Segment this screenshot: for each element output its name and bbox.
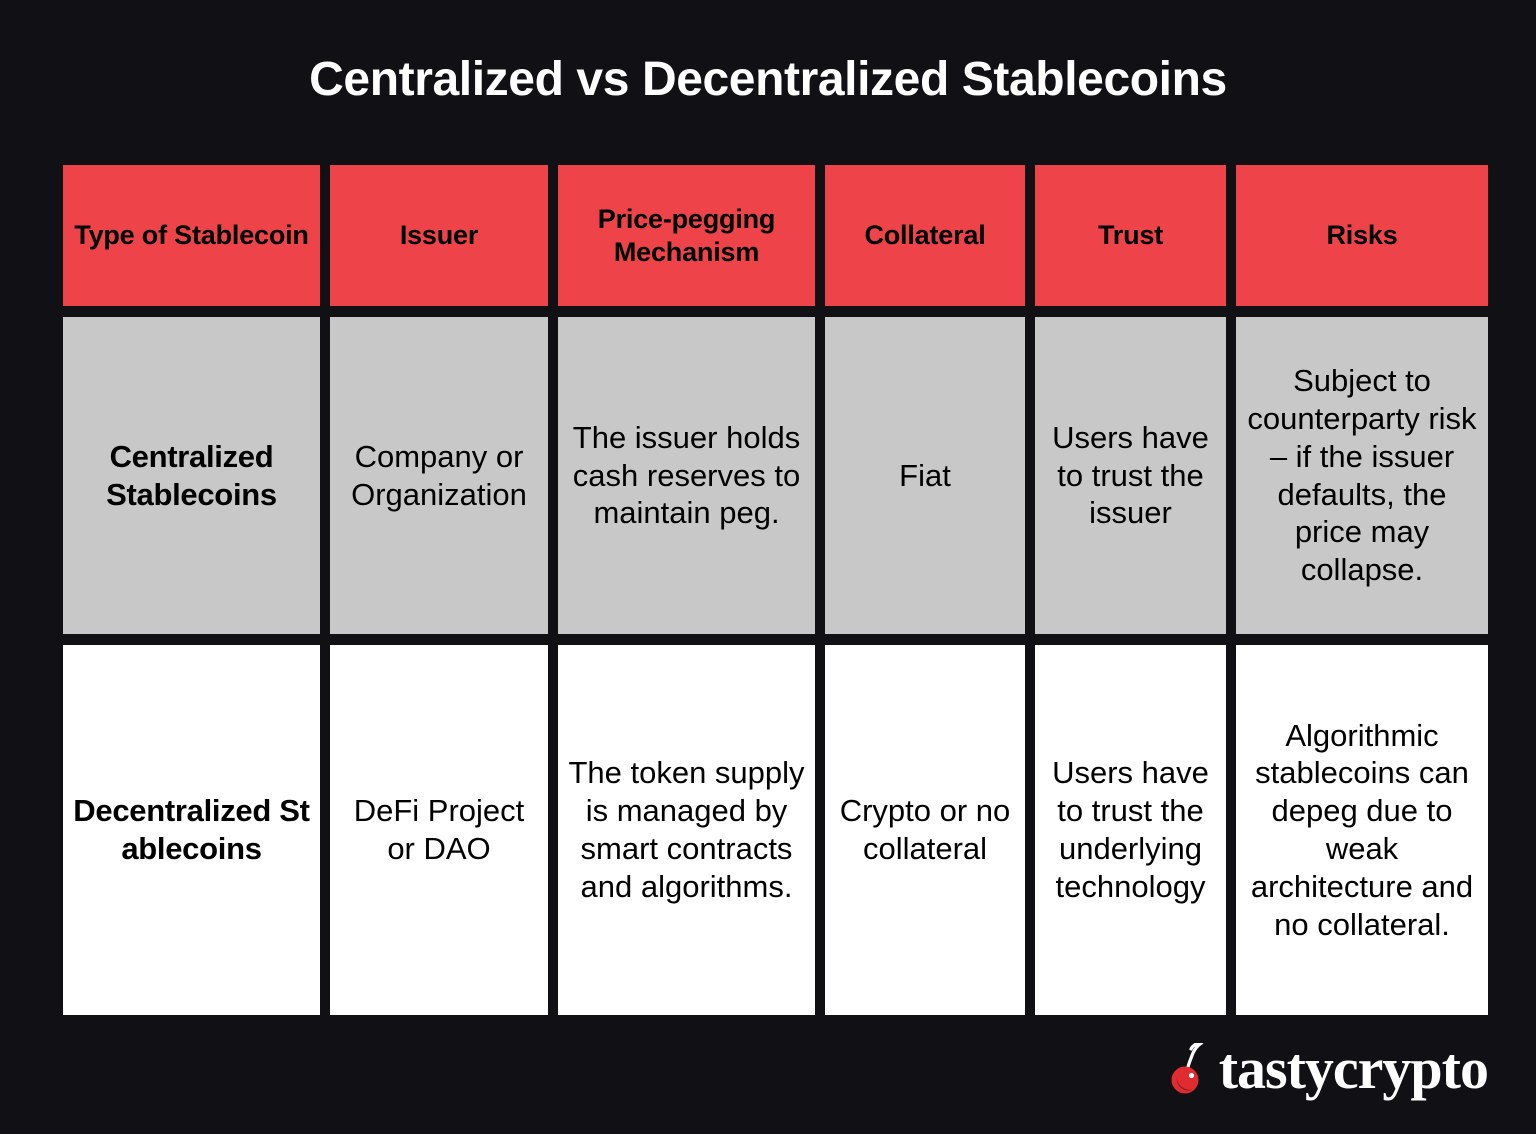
column-header-price-pegging-mechanism: Price-pegging Mechanism bbox=[558, 165, 815, 306]
cell-centralized-collateral: Fiat bbox=[825, 317, 1025, 634]
cell-text: Algorithmic stablecoins can depeg due to… bbox=[1244, 717, 1480, 944]
column-header-label: Issuer bbox=[400, 219, 478, 252]
column-header-label: Collateral bbox=[864, 219, 985, 252]
cell-text: Crypto or no collateral bbox=[833, 792, 1017, 868]
cell-decentralized-risks: Algorithmic stablecoins can depeg due to… bbox=[1236, 645, 1488, 1015]
row-label-decentralized: Decentralized Stablecoins bbox=[63, 645, 320, 1015]
cell-text: Centralized Stablecoins bbox=[71, 438, 312, 514]
brand-wordmark: tastycrypto bbox=[1219, 1040, 1488, 1098]
cherry-icon bbox=[1169, 1043, 1209, 1095]
cell-decentralized-price-pegging: The token supply is managed by smart con… bbox=[558, 645, 815, 1015]
column-header-label: Type of Stablecoin bbox=[74, 219, 308, 252]
table-header-row: Type of Stablecoin Issuer Price-pegging … bbox=[63, 165, 1488, 306]
row-label-centralized: Centralized Stablecoins bbox=[63, 317, 320, 634]
cell-text: Users have to trust the underlying techn… bbox=[1043, 754, 1218, 905]
cell-decentralized-issuer: DeFi Project or DAO bbox=[330, 645, 548, 1015]
cell-centralized-issuer: Company or Organization bbox=[330, 317, 548, 634]
table-row: Centralized Stablecoins Company or Organ… bbox=[63, 317, 1488, 634]
column-header-issuer: Issuer bbox=[330, 165, 548, 306]
column-header-collateral: Collateral bbox=[825, 165, 1025, 306]
column-header-label: Risks bbox=[1326, 219, 1397, 252]
cell-centralized-trust: Users have to trust the issuer bbox=[1035, 317, 1226, 634]
column-header-label: Price-pegging Mechanism bbox=[566, 203, 807, 269]
infographic-page: Centralized vs Decentralized Stablecoins… bbox=[0, 0, 1536, 1134]
comparison-table: Type of Stablecoin Issuer Price-pegging … bbox=[63, 165, 1488, 1015]
cell-text: DeFi Project or DAO bbox=[338, 792, 540, 868]
cell-centralized-risks: Subject to counterparty risk – if the is… bbox=[1236, 317, 1488, 634]
cell-text: Fiat bbox=[899, 457, 951, 495]
column-header-risks: Risks bbox=[1236, 165, 1488, 306]
cell-centralized-price-pegging: The issuer holds cash reserves to mainta… bbox=[558, 317, 815, 634]
cell-text: Company or Organization bbox=[338, 438, 540, 514]
column-header-trust: Trust bbox=[1035, 165, 1226, 306]
page-title: Centralized vs Decentralized Stablecoins bbox=[0, 52, 1536, 107]
column-header-type-of-stablecoin: Type of Stablecoin bbox=[63, 165, 320, 306]
cell-text: Users have to trust the issuer bbox=[1043, 419, 1218, 532]
cell-text: The token supply is managed by smart con… bbox=[566, 754, 807, 905]
cell-decentralized-trust: Users have to trust the underlying techn… bbox=[1035, 645, 1226, 1015]
cell-text: Subject to counterparty risk – if the is… bbox=[1244, 362, 1480, 589]
table-row: Decentralized Stablecoins DeFi Project o… bbox=[63, 645, 1488, 1015]
cell-text: Decentralized Stablecoins bbox=[71, 792, 312, 868]
brand-logo: tastycrypto bbox=[1169, 1040, 1488, 1098]
cell-text: The issuer holds cash reserves to mainta… bbox=[566, 419, 807, 532]
cell-decentralized-collateral: Crypto or no collateral bbox=[825, 645, 1025, 1015]
column-header-label: Trust bbox=[1098, 219, 1163, 252]
